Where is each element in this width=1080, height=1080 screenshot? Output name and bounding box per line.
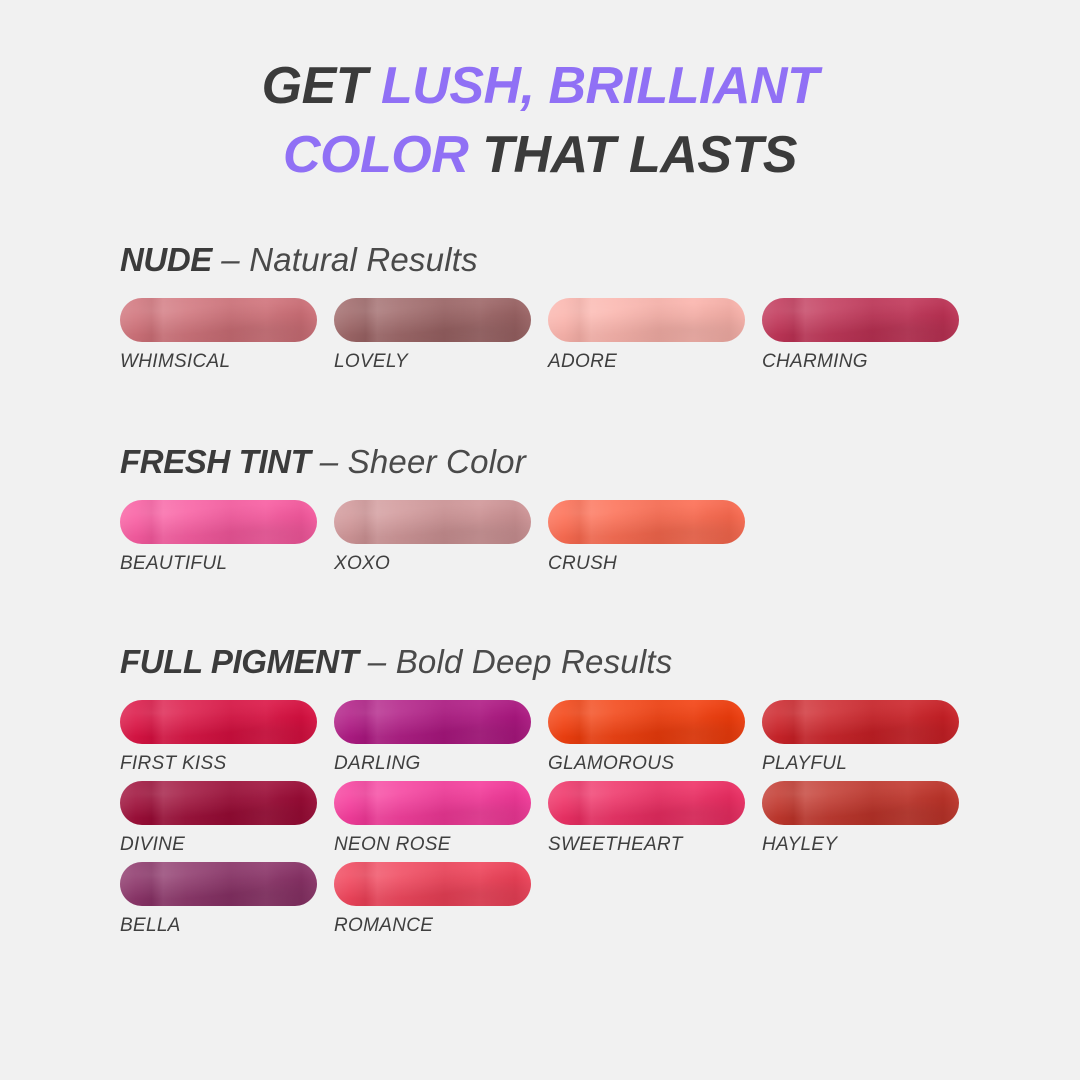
- page-title-line-1-accent: LUSH, BRILLIANT: [381, 57, 818, 115]
- section-full-pigment: FULL PIGMENT – Bold Deep Results FIRST K…: [120, 645, 1000, 943]
- swatch-color-whimsical[interactable]: [120, 298, 317, 342]
- section-description-fresh-tint: – Sheer Color: [310, 443, 526, 480]
- section-heading-full-pigment: FULL PIGMENT – Bold Deep Results: [120, 645, 1000, 678]
- swatch-label-crush: CRUSH: [548, 553, 745, 575]
- swatch-row: DIVINE NEON ROSE SWEETHEART HAYLEY: [120, 781, 1000, 856]
- swatch-color-glamorous[interactable]: [548, 700, 745, 744]
- swatch-color-adore[interactable]: [548, 298, 745, 342]
- swatch-label-first-kiss: FIRST KISS: [120, 753, 317, 775]
- swatch-label-charming: CHARMING: [762, 351, 959, 373]
- section-heading-nude: NUDE – Natural Results: [120, 243, 1000, 276]
- swatch-label-whimsical: WHIMSICAL: [120, 351, 317, 373]
- section-fresh-tint: FRESH TINT – Sheer Color BEAUTIFUL XOXO …: [120, 445, 1000, 581]
- swatch-cell-bella[interactable]: BELLA: [120, 862, 317, 937]
- section-category-nude: NUDE: [120, 241, 212, 278]
- swatch-row: BELLA ROMANCE: [120, 862, 1000, 937]
- swatch-label-bella: BELLA: [120, 915, 317, 937]
- swatch-color-neon-rose[interactable]: [334, 781, 531, 825]
- shade-chart-page: GET LUSH, BRILLIANT COLOR THAT LASTS NUD…: [0, 0, 1080, 1080]
- swatch-color-romance[interactable]: [334, 862, 531, 906]
- swatch-cell-adore[interactable]: ADORE: [548, 298, 745, 373]
- swatch-color-hayley[interactable]: [762, 781, 959, 825]
- swatch-color-bella[interactable]: [120, 862, 317, 906]
- swatch-cell-lovely[interactable]: LOVELY: [334, 298, 531, 373]
- section-description-nude: – Natural Results: [212, 241, 478, 278]
- swatch-color-darling[interactable]: [334, 700, 531, 744]
- swatch-cell-whimsical[interactable]: WHIMSICAL: [120, 298, 317, 373]
- section-description-full-pigment: – Bold Deep Results: [358, 643, 672, 680]
- swatch-cell-charming[interactable]: CHARMING: [762, 298, 959, 373]
- swatch-label-sweetheart: SWEETHEART: [548, 834, 745, 856]
- swatch-color-charming[interactable]: [762, 298, 959, 342]
- section-category-fresh-tint: FRESH TINT: [120, 443, 310, 480]
- section-nude: NUDE – Natural Results WHIMSICAL LOVELY …: [120, 243, 1000, 379]
- swatch-cell-playful[interactable]: PLAYFUL: [762, 700, 959, 775]
- swatch-label-xoxo: XOXO: [334, 553, 531, 575]
- page-title: GET LUSH, BRILLIANT COLOR THAT LASTS: [0, 52, 1080, 189]
- swatch-label-neon-rose: NEON ROSE: [334, 834, 531, 856]
- swatch-cell-sweetheart[interactable]: SWEETHEART: [548, 781, 745, 856]
- swatch-label-adore: ADORE: [548, 351, 745, 373]
- swatch-color-xoxo[interactable]: [334, 500, 531, 544]
- swatch-color-first-kiss[interactable]: [120, 700, 317, 744]
- swatch-cell-beautiful[interactable]: BEAUTIFUL: [120, 500, 317, 575]
- page-title-line-2-base: THAT LASTS: [468, 126, 797, 184]
- swatch-label-romance: ROMANCE: [334, 915, 531, 937]
- swatch-cell-darling[interactable]: DARLING: [334, 700, 531, 775]
- swatch-color-playful[interactable]: [762, 700, 959, 744]
- swatch-cell-divine[interactable]: DIVINE: [120, 781, 317, 856]
- swatch-color-divine[interactable]: [120, 781, 317, 825]
- swatch-cell-glamorous[interactable]: GLAMOROUS: [548, 700, 745, 775]
- swatch-color-sweetheart[interactable]: [548, 781, 745, 825]
- swatch-label-beautiful: BEAUTIFUL: [120, 553, 317, 575]
- swatch-label-lovely: LOVELY: [334, 351, 531, 373]
- swatch-label-playful: PLAYFUL: [762, 753, 959, 775]
- swatch-color-lovely[interactable]: [334, 298, 531, 342]
- swatch-label-glamorous: GLAMOROUS: [548, 753, 745, 775]
- section-category-full-pigment: FULL PIGMENT: [120, 643, 358, 680]
- swatch-cell-crush[interactable]: CRUSH: [548, 500, 745, 575]
- page-title-line-2-accent: COLOR: [283, 126, 468, 184]
- swatch-cell-hayley[interactable]: HAYLEY: [762, 781, 959, 856]
- section-heading-fresh-tint: FRESH TINT – Sheer Color: [120, 445, 1000, 478]
- swatch-cell-romance[interactable]: ROMANCE: [334, 862, 531, 937]
- swatch-color-crush[interactable]: [548, 500, 745, 544]
- swatch-row: WHIMSICAL LOVELY ADORE CHARMING: [120, 298, 1000, 373]
- swatch-row: BEAUTIFUL XOXO CRUSH: [120, 500, 1000, 575]
- swatch-cell-xoxo[interactable]: XOXO: [334, 500, 531, 575]
- page-title-line-1-base: GET: [262, 57, 381, 115]
- swatch-cell-first-kiss[interactable]: FIRST KISS: [120, 700, 317, 775]
- page-title-line-1: GET LUSH, BRILLIANT: [0, 52, 1080, 121]
- swatch-label-hayley: HAYLEY: [762, 834, 959, 856]
- page-title-line-2: COLOR THAT LASTS: [0, 121, 1080, 190]
- swatch-color-beautiful[interactable]: [120, 500, 317, 544]
- swatch-label-divine: DIVINE: [120, 834, 317, 856]
- swatch-label-darling: DARLING: [334, 753, 531, 775]
- swatch-cell-neon-rose[interactable]: NEON ROSE: [334, 781, 531, 856]
- swatch-row: FIRST KISS DARLING GLAMOROUS PLAYFUL: [120, 700, 1000, 775]
